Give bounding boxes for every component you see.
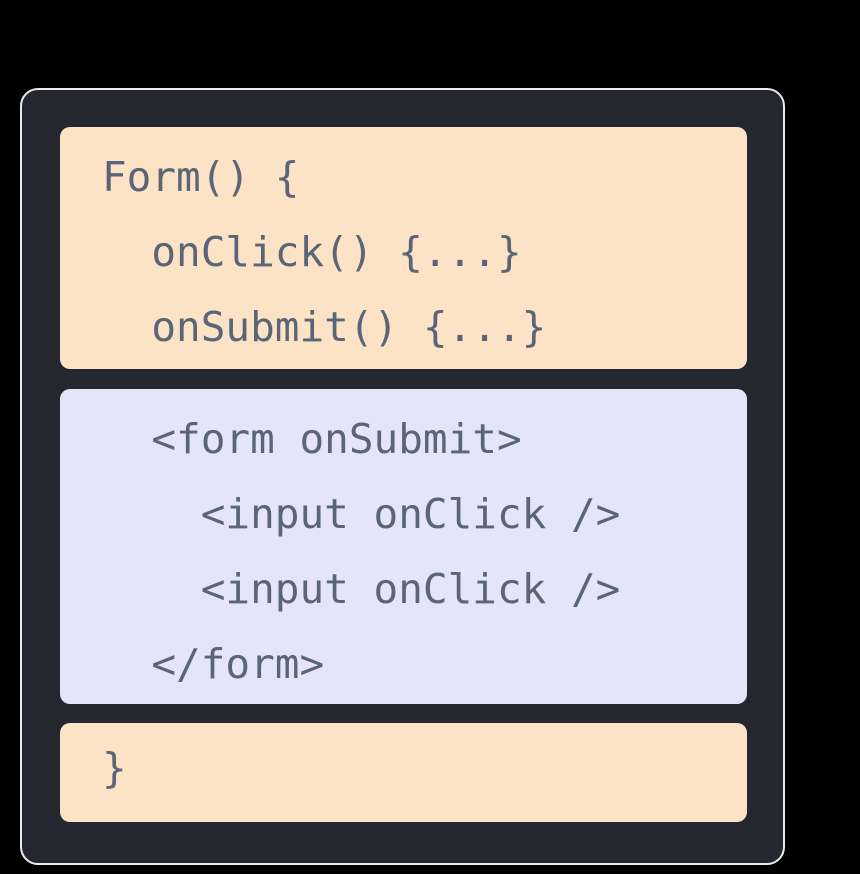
code-block-closing: } — [60, 723, 747, 822]
code-block-signature: Form() { onClick() {...} onSubmit() {...… — [60, 127, 747, 369]
code-line: <form onSubmit> — [60, 402, 747, 477]
code-line-text: onClick() {...} — [60, 215, 747, 290]
code-line: } — [60, 731, 747, 806]
code-line: onClick() {...} — [60, 215, 747, 290]
code-line-text: <input onClick /> — [60, 552, 747, 627]
screenshot-canvas: Form() { onClick() {...} onSubmit() {...… — [0, 0, 860, 874]
code-line: Form() { — [60, 140, 747, 215]
code-line-text: <form onSubmit> — [60, 402, 747, 477]
code-line: <input onClick /> — [60, 552, 747, 627]
code-line-text: Form() { — [60, 140, 747, 215]
code-line: onSubmit() {...} — [60, 290, 747, 365]
code-line-text: <input onClick /> — [60, 477, 747, 552]
code-card: Form() { onClick() {...} onSubmit() {...… — [20, 88, 785, 865]
code-line-text: </form> — [60, 627, 747, 702]
code-line-text: } — [60, 731, 747, 806]
code-line-text: onSubmit() {...} — [60, 290, 747, 365]
code-block-markup: <form onSubmit> <input onClick /> <input… — [60, 389, 747, 704]
code-line: <input onClick /> — [60, 477, 747, 552]
code-line: </form> — [60, 627, 747, 702]
